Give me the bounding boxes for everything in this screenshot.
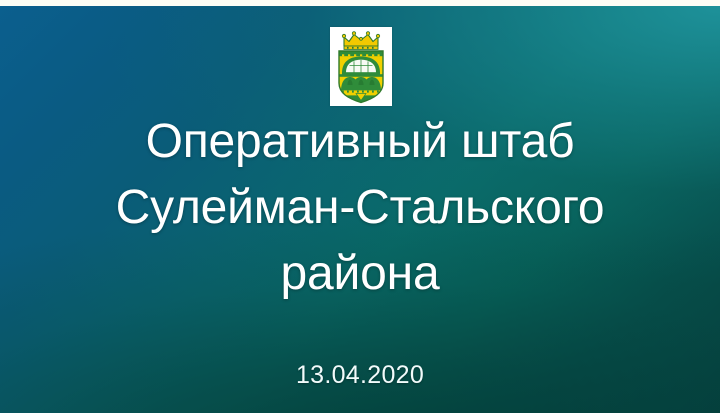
bottom-edge-strip: [0, 413, 720, 420]
title-line-3: района: [0, 241, 720, 307]
slide-title: Оперативный штаб Сулейман-Стальского рай…: [0, 109, 720, 307]
title-line-2: Сулейман-Стальского: [0, 175, 720, 241]
title-line-1: Оперативный штаб: [0, 109, 720, 175]
coat-of-arms-icon: [330, 27, 392, 106]
slide-content: Оперативный штаб Сулейман-Стальского рай…: [0, 6, 720, 413]
presentation-slide: Оперативный штаб Сулейман-Стальского рай…: [0, 0, 720, 420]
slide-background: Оперативный штаб Сулейман-Стальского рай…: [0, 6, 720, 413]
slide-date: 13.04.2020: [0, 361, 720, 390]
